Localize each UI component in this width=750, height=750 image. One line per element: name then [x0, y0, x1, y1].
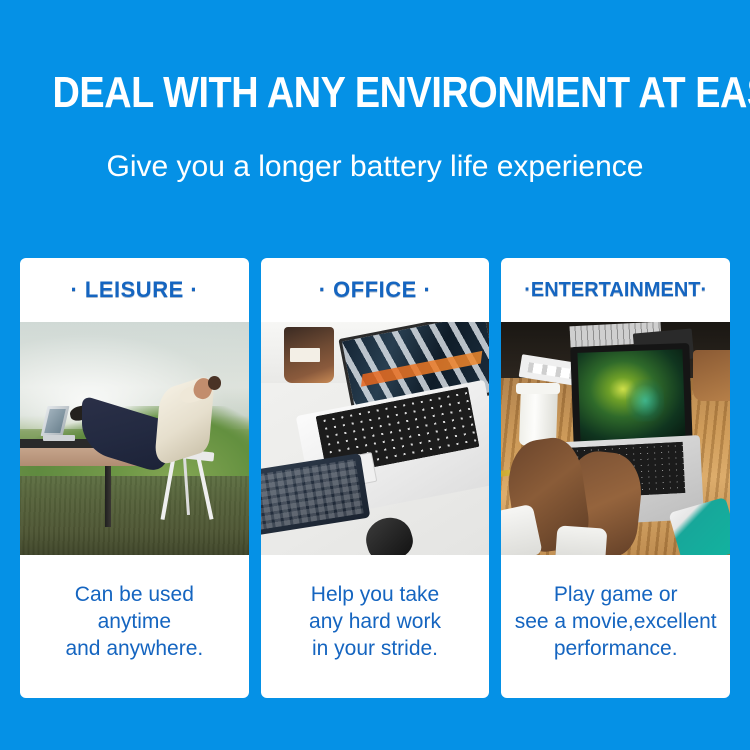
game-screen-decor — [578, 350, 686, 444]
ground-decor — [20, 476, 249, 555]
caption-line: Can be used — [65, 581, 203, 608]
caption-line: anytime — [65, 608, 203, 635]
laptop-base-decor — [43, 435, 75, 441]
feature-card-entertainment[interactable]: ·ENTERTAINMENT· Play game or — [501, 258, 730, 698]
caption-line: performance. — [515, 635, 717, 662]
card-caption-leisure: Can be used anytime and anywhere. — [20, 555, 249, 698]
person-hair-decor — [208, 376, 222, 390]
card-caption-office: Help you take any hard work in your stri… — [261, 555, 490, 698]
plant-pot-decor — [693, 350, 730, 401]
external-keyboard-decor — [261, 453, 371, 536]
desk-leg-decor — [105, 466, 112, 527]
laptop-lid-decor — [570, 343, 692, 450]
caption-line: in your stride. — [309, 635, 441, 662]
caption-line: see a movie,excellent — [515, 608, 717, 635]
sleeve-cuff-decor — [555, 525, 608, 555]
card-photo-entertainment — [501, 322, 730, 555]
coffee-lid-decor — [516, 383, 559, 395]
card-title-entertainment: ·ENTERTAINMENT· — [501, 258, 730, 322]
card-title-office: · OFFICE · — [261, 258, 490, 322]
screen-text-decor — [361, 351, 482, 387]
caption-line: any hard work — [309, 608, 441, 635]
feature-card-leisure[interactable]: · LEISURE · Can be used anyti — [20, 258, 249, 698]
feature-card-row: · LEISURE · Can be used anyti — [20, 258, 730, 698]
caption-line: Help you take — [309, 581, 441, 608]
caption-line: Play game or — [515, 581, 717, 608]
bag-tag-decor — [290, 348, 320, 362]
feature-card-office[interactable]: · OFFICE · Help you take any hard work i… — [261, 258, 490, 698]
card-title-leisure: · LEISURE · — [20, 258, 249, 322]
page-subheadline: Give you a longer battery life experienc… — [0, 148, 750, 186]
page-headline: DEAL WITH ANY ENVIRONMENT AT EASE — [53, 70, 698, 116]
caption-line: and anywhere. — [65, 635, 203, 662]
card-photo-leisure — [20, 322, 249, 555]
card-photo-office — [261, 322, 490, 555]
mouse-decor — [361, 512, 417, 555]
card-caption-entertainment: Play game or see a movie,excellent perfo… — [501, 555, 730, 698]
